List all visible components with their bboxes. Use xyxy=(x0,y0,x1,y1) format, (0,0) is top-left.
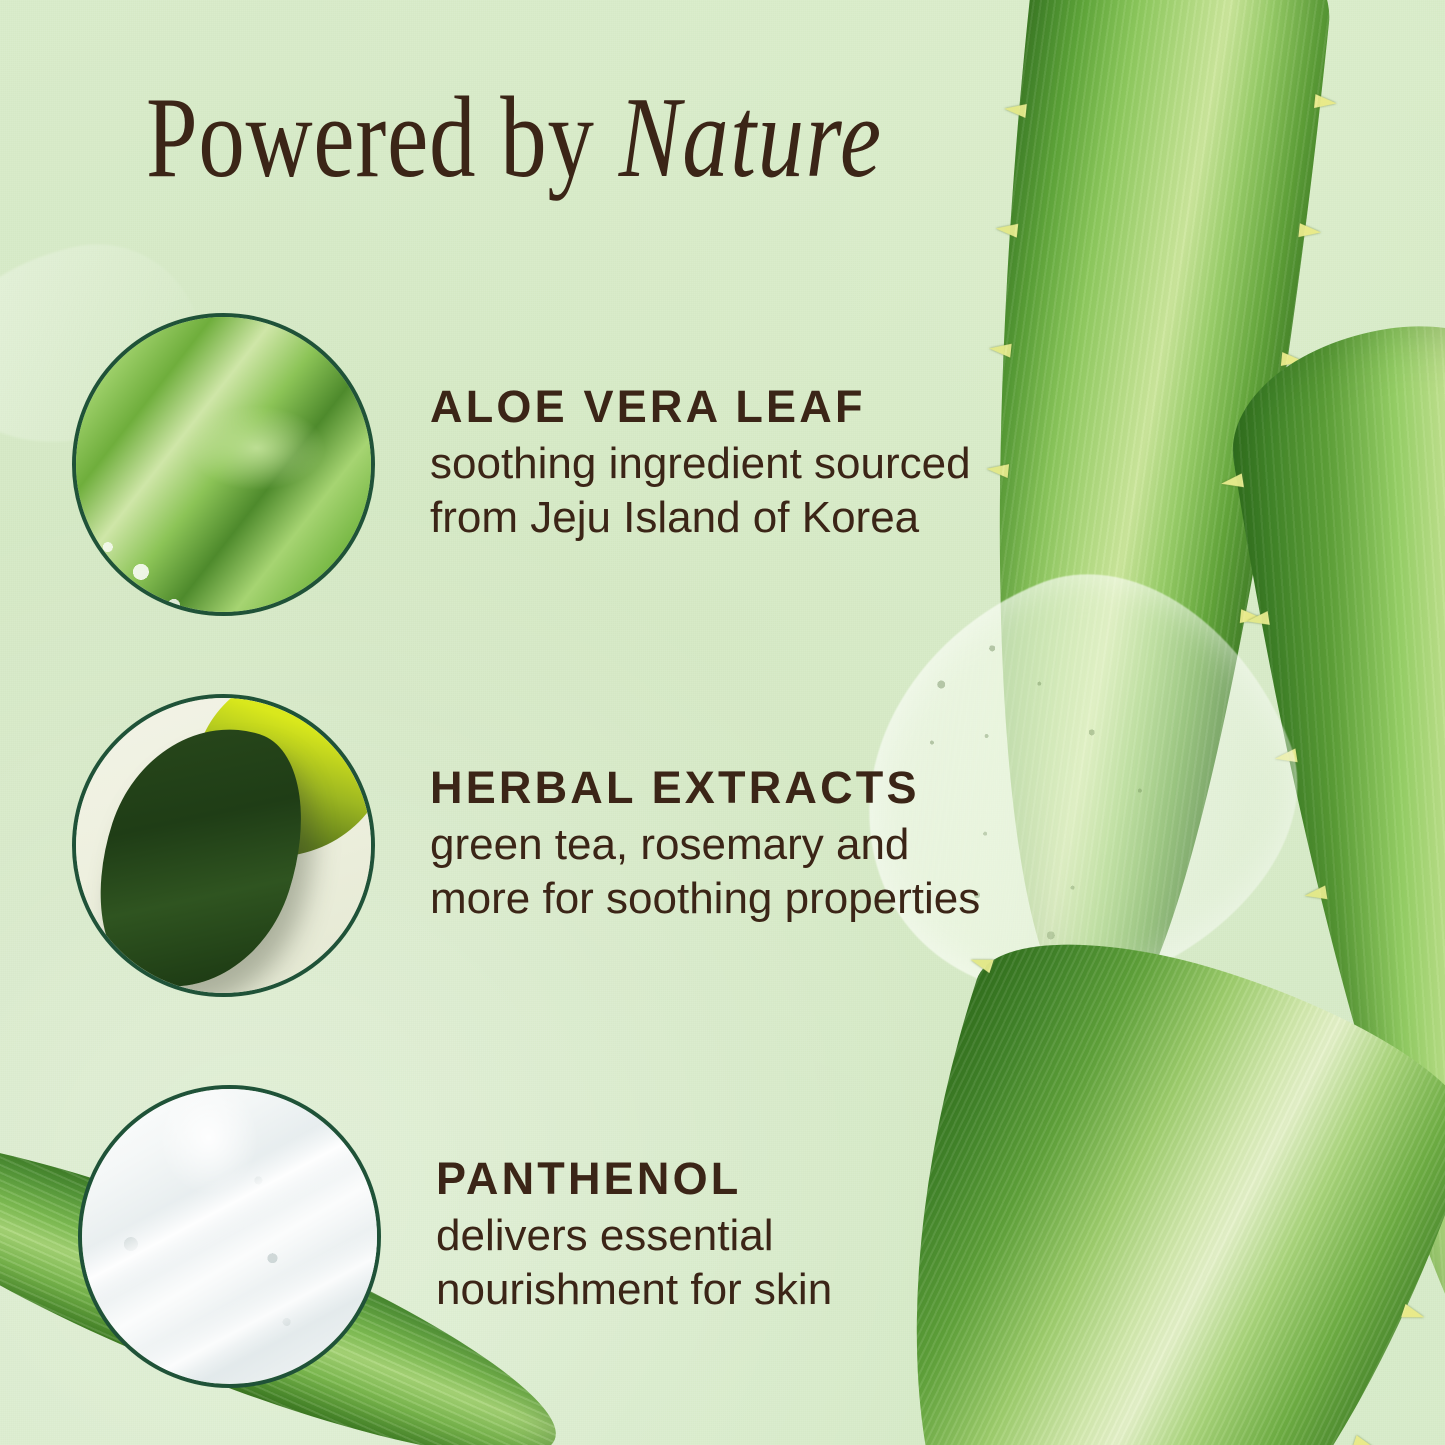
ingredient-description: green tea, rosemary and more for soothin… xyxy=(430,818,980,925)
ingredient-copy: ALOE VERA LEAF soothing ingredient sourc… xyxy=(430,384,971,544)
panthenol-thumbnail xyxy=(78,1085,381,1388)
herbal-extracts-image xyxy=(76,698,371,993)
ingredient-row-aloe-vera-leaf: ALOE VERA LEAF soothing ingredient sourc… xyxy=(72,313,971,616)
leaf-spine-icon xyxy=(1314,94,1337,110)
page-title: Powered by Nature xyxy=(146,78,883,200)
leaf-spine-icon xyxy=(1401,1304,1426,1324)
ingredient-infographic: Powered by Nature ALOE VERA LEAF soothin… xyxy=(0,0,1445,1445)
leaf-spine-icon xyxy=(1003,102,1026,118)
aloe-vera-leaf-thumbnail xyxy=(72,313,375,616)
panthenol-gel-image xyxy=(82,1089,377,1384)
ingredient-description: delivers essential nourishment for skin xyxy=(436,1209,832,1316)
leaf-spine-icon xyxy=(1352,1435,1377,1445)
aloe-vera-leaf-image xyxy=(76,317,371,612)
ingredient-copy: HERBAL EXTRACTS green tea, rosemary and … xyxy=(430,765,980,925)
ingredient-copy: PANTHENOL delivers essential nourishment… xyxy=(436,1156,832,1316)
leaf-spine-icon xyxy=(1298,223,1321,239)
herbal-extracts-thumbnail xyxy=(72,694,375,997)
leaf-spine-icon xyxy=(1220,473,1244,490)
ingredient-title: PANTHENOL xyxy=(436,1156,832,1201)
ingredient-description: soothing ingredient sourced from Jeju Is… xyxy=(430,437,971,544)
leaf-spine-icon xyxy=(986,462,1009,478)
leaf-spine-icon xyxy=(1246,611,1270,628)
leaf-spine-icon xyxy=(1303,885,1327,902)
leaf-spine-icon xyxy=(988,341,1011,357)
ingredient-row-panthenol: PANTHENOL delivers essential nourishment… xyxy=(78,1085,832,1388)
ingredient-title: HERBAL EXTRACTS xyxy=(430,765,980,810)
leaf-spine-icon xyxy=(995,221,1018,237)
page-title-prefix: Powered by xyxy=(146,74,619,202)
page-title-script-word: Nature xyxy=(619,74,883,202)
ingredient-row-herbal-extracts: HERBAL EXTRACTS green tea, rosemary and … xyxy=(72,694,980,997)
ingredient-title: ALOE VERA LEAF xyxy=(430,384,971,429)
